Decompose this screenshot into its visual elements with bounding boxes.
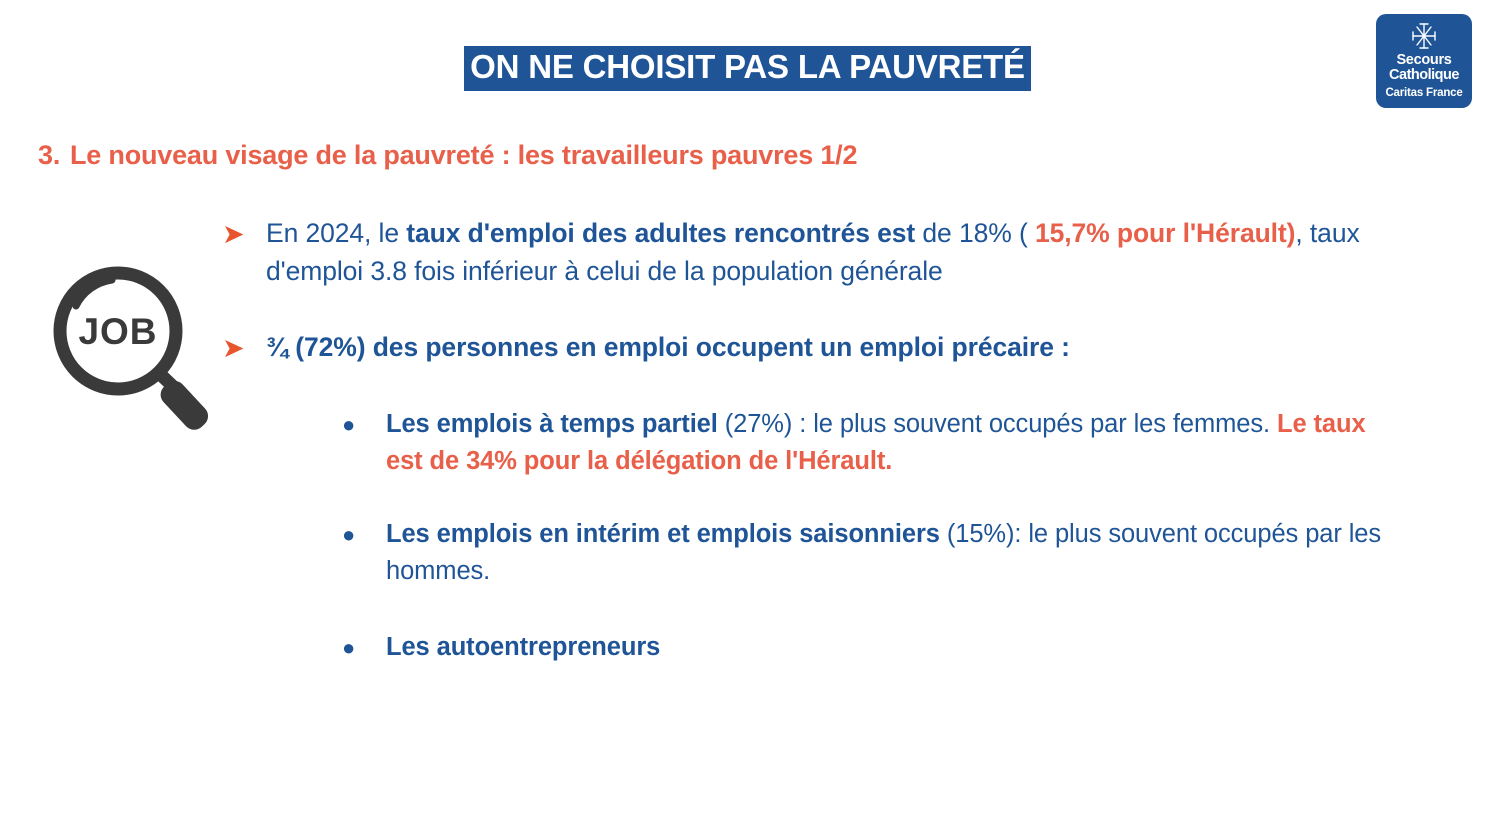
- dot-bullet-icon: ●: [342, 629, 386, 659]
- logo-line-3: Caritas France: [1376, 87, 1472, 100]
- run-text: de 18% (: [915, 218, 1035, 248]
- sub-bullet-text-autoentrepreneurs: Les autoentrepreneurs: [386, 629, 1396, 666]
- bullet-text-precarious-employment: ¾ (72%) des personnes en emploi occupent…: [266, 328, 1256, 366]
- sub-bullet-list: ● Les emplois à temps partiel (27%) : le…: [342, 406, 1412, 666]
- run-text: En 2024, le: [266, 218, 406, 248]
- bullet-text-employment-rate: En 2024, le taux d'emploi des adultes re…: [266, 214, 1386, 290]
- dot-bullet-icon: ●: [342, 406, 386, 436]
- run-text: (27%) : le plus souvent occupés par les …: [718, 410, 1277, 438]
- bullet-item-employment-rate: ➤ En 2024, le taux d'emploi des adultes …: [222, 214, 1412, 290]
- arrow-bullet-icon: ➤: [222, 328, 266, 362]
- run-text: Les emplois à temps partiel: [386, 410, 718, 438]
- sub-bullet-part-time: ● Les emplois à temps partiel (27%) : le…: [342, 406, 1412, 479]
- arrow-bullet-icon: ➤: [222, 214, 266, 248]
- sub-bullet-text-part-time: Les emplois à temps partiel (27%) : le p…: [386, 406, 1396, 479]
- run-text: Les autoentrepreneurs: [386, 633, 660, 661]
- run-text-highlight-herault: 15,7% pour l'Hérault): [1035, 218, 1295, 248]
- secours-catholique-logo: Secours Catholique Caritas France: [1376, 14, 1472, 108]
- sub-bullet-interim-seasonal: ● Les emplois en intérim et emplois sais…: [342, 516, 1412, 589]
- logo-line-1: Secours: [1376, 53, 1472, 68]
- sub-bullet-autoentrepreneurs: ● Les autoentrepreneurs: [342, 629, 1412, 666]
- slide-root: ON NE CHOISIT PAS LA PAUVRETÉ Secours Ca…: [0, 0, 1495, 840]
- run-text: ¾ (72%) des personnes en emploi occupent…: [266, 332, 1070, 362]
- page-title: ON NE CHOISIT PAS LA PAUVRETÉ: [464, 46, 1031, 91]
- run-text: taux d'emploi des adultes rencontrés est: [406, 218, 915, 248]
- bullet-item-precarious-employment: ➤ ¾ (72%) des personnes en emploi occupe…: [222, 328, 1412, 366]
- job-label: JOB: [78, 311, 157, 352]
- logo-line-2: Catholique: [1376, 68, 1472, 83]
- caritas-cross-icon: [1407, 21, 1441, 51]
- dot-bullet-icon: ●: [342, 516, 386, 546]
- content-body: ➤ En 2024, le taux d'emploi des adultes …: [222, 214, 1412, 702]
- title-container: ON NE CHOISIT PAS LA PAUVRETÉ: [0, 46, 1495, 91]
- section-heading: 3.Le nouveau visage de la pauvreté : les…: [38, 140, 857, 171]
- run-text: Les emplois en intérim et emplois saison…: [386, 520, 940, 548]
- job-magnifier-icon: JOB: [40, 258, 230, 438]
- sub-bullet-text-interim-seasonal: Les emplois en intérim et emplois saison…: [386, 516, 1412, 589]
- section-heading-text: Le nouveau visage de la pauvreté : les t…: [70, 140, 857, 170]
- section-number: 3.: [38, 140, 70, 171]
